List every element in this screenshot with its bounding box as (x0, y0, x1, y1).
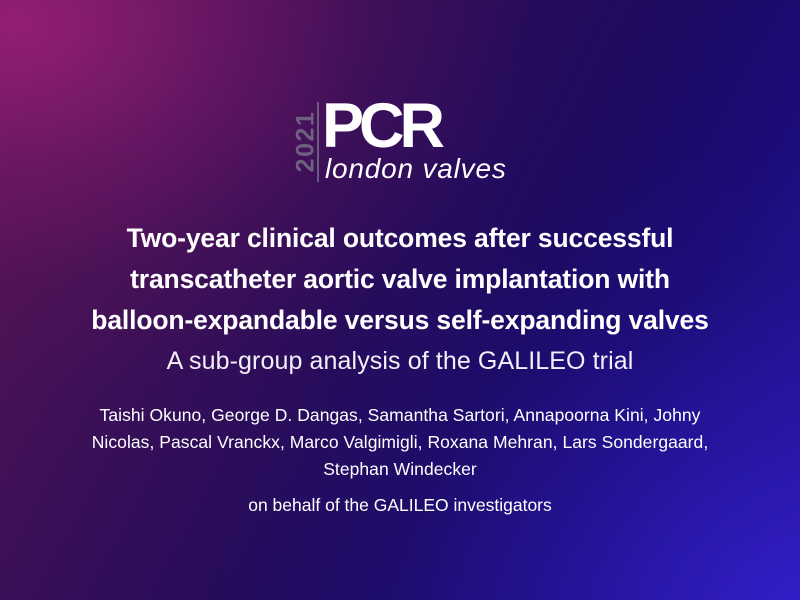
author-line-2: Nicolas, Pascal Vranckx, Marco Valgimigl… (50, 429, 750, 456)
author-line-3: Stephan Windecker (50, 456, 750, 483)
slide-subtitle: A sub-group analysis of the GALILEO tria… (0, 345, 800, 377)
slide-title-block: Two-year clinical outcomes after success… (0, 218, 800, 377)
logo-year-label: 2021 (294, 103, 319, 181)
author-line-1: Taishi Okuno, George D. Dangas, Samantha… (50, 402, 750, 429)
title-line-1: Two-year clinical outcomes after success… (0, 218, 800, 259)
logo-wordmark-pcr: PCR (322, 95, 440, 158)
authors-block: Taishi Okuno, George D. Dangas, Samantha… (50, 402, 750, 518)
pcr-london-valves-logo: 2021 PCR london valves (286, 98, 526, 190)
title-line-2: transcatheter aortic valve implantation … (0, 259, 800, 300)
title-line-3: balloon-expandable versus self-expanding… (0, 300, 800, 341)
on-behalf-statement: on behalf of the GALILEO investigators (50, 492, 750, 518)
logo-subtitle-london-valves: london valves (325, 155, 507, 183)
presentation-slide: 2021 PCR london valves Two-year clinical… (0, 0, 800, 600)
logo-divider (317, 102, 319, 182)
